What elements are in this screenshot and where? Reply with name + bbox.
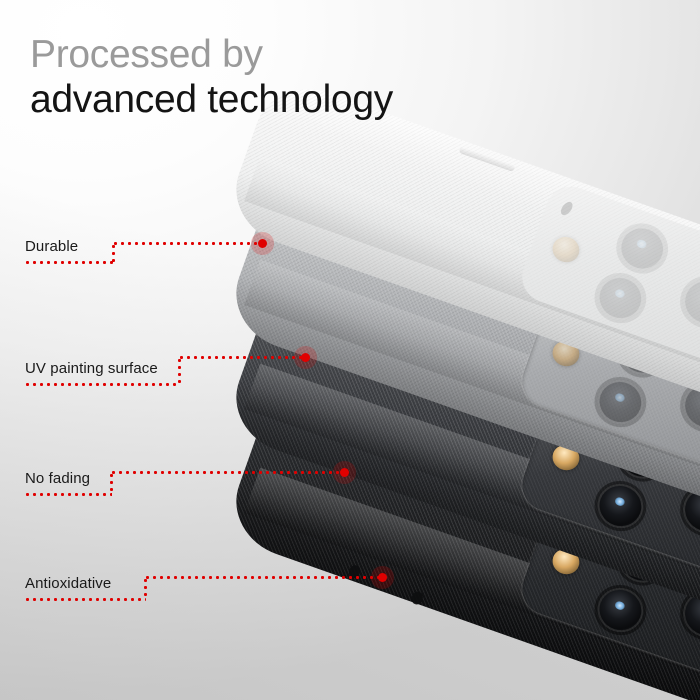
callout-underline: [24, 383, 180, 386]
headline-line-2: advanced technology: [30, 79, 393, 120]
product-feature-graphic: Processed by advanced technology Durable…: [0, 0, 700, 700]
callout-label: Antioxidative: [25, 575, 111, 592]
callout-leader-line: [110, 471, 346, 474]
callout-riser: [112, 243, 115, 263]
callout-leader-line: [178, 356, 306, 359]
callout-label: No fading: [25, 470, 90, 487]
callout-underline: [24, 493, 112, 496]
callout-underline: [24, 598, 146, 601]
callout-marker: [378, 573, 387, 582]
callout-label: Durable: [25, 238, 78, 255]
headline-line-1: Processed by: [30, 34, 393, 75]
headline: Processed by advanced technology: [30, 34, 393, 121]
callout-marker: [301, 353, 310, 362]
callout-riser: [110, 472, 113, 495]
callout-marker: [258, 239, 267, 248]
callout-underline: [24, 261, 114, 264]
callout-marker: [340, 468, 349, 477]
callout-riser: [178, 357, 181, 385]
callout-label: UV painting surface: [25, 360, 158, 377]
callout-riser: [144, 577, 147, 600]
callout-leader-line: [112, 242, 260, 245]
callout-leader-line: [144, 576, 384, 579]
